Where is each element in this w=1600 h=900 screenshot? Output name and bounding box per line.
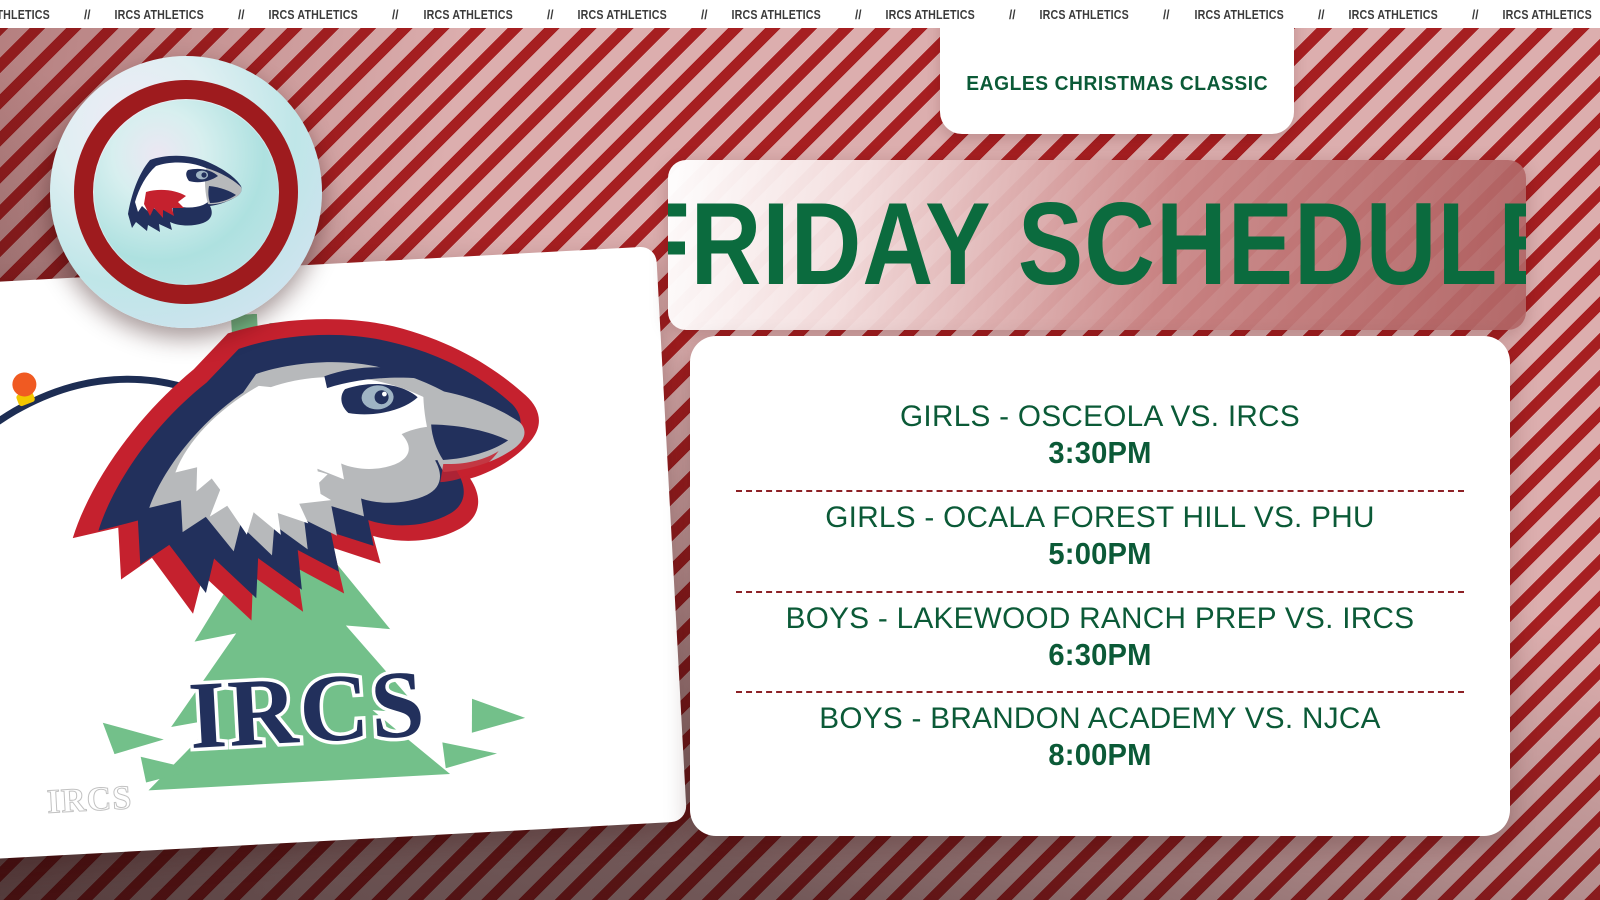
- ticker-item: IRCS ATHLETICS: [262, 7, 364, 22]
- ticker-item: IRCS ATHLETICS: [1188, 7, 1290, 22]
- eagle-head-icon: [126, 152, 246, 232]
- headline-banner: FRIDAY SCHEDULE: [668, 160, 1526, 330]
- game-time: 6:30PM: [748, 637, 1451, 674]
- logo-wordmark: IRCS: [186, 649, 429, 769]
- ticker-separator: //: [1006, 7, 1032, 22]
- row-divider: [736, 691, 1464, 693]
- ticker-separator: //: [851, 7, 877, 22]
- games-list: GIRLS - OSCEOLA VS. IRCS3:30PMGIRLS - OC…: [726, 395, 1474, 783]
- ircs-watermark: IRCS: [46, 779, 133, 822]
- ornament-badge: [50, 56, 322, 328]
- ticker-item: IRCS ATHLETICS: [725, 7, 827, 22]
- ticker-item: IRCS ATHLETICS: [1496, 7, 1598, 22]
- game-matchup: BOYS - LAKEWOOD RANCH PREP VS. IRCS: [730, 602, 1471, 636]
- game-matchup: GIRLS - OSCEOLA VS. IRCS: [730, 400, 1471, 434]
- athletics-ticker: IRCS ATHLETICS//IRCS ATHLETICS//IRCS ATH…: [0, 0, 1600, 28]
- ticker-item: IRCS ATHLETICS: [417, 7, 519, 22]
- ircs-team-logo: IRCS: [21, 298, 577, 816]
- row-divider: [736, 591, 1464, 593]
- game-time: 5:00PM: [748, 536, 1451, 573]
- ticker-separator: //: [543, 7, 569, 22]
- ticker-separator: //: [697, 7, 723, 22]
- game-row: BOYS - LAKEWOOD RANCH PREP VS. IRCS6:30P…: [726, 597, 1474, 683]
- event-title: EAGLES CHRISTMAS CLASSIC: [966, 73, 1268, 96]
- game-row: GIRLS - OCALA FOREST HILL VS. PHU5:00PM: [726, 496, 1474, 582]
- ticker-item: IRCS ATHLETICS: [1342, 7, 1444, 22]
- game-row: BOYS - BRANDON ACADEMY VS. NJCA8:00PM: [726, 697, 1474, 783]
- headline-title: FRIDAY SCHEDULE: [668, 186, 1526, 303]
- game-matchup: GIRLS - OCALA FOREST HILL VS. PHU: [730, 501, 1471, 535]
- game-matchup: BOYS - BRANDON ACADEMY VS. NJCA: [730, 702, 1471, 736]
- ticker-item: IRCS ATHLETICS: [108, 7, 210, 22]
- ornament-core: [94, 100, 278, 284]
- row-divider: [736, 490, 1464, 492]
- ticker-separator: //: [80, 7, 106, 22]
- ticker-separator: //: [235, 7, 261, 22]
- ticker-separator: //: [389, 7, 415, 22]
- ticker-item: IRCS ATHLETICS: [1033, 7, 1135, 22]
- ticker-track: IRCS ATHLETICS//IRCS ATHLETICS//IRCS ATH…: [0, 7, 1600, 22]
- logo-artwork: IRCS: [21, 298, 577, 816]
- schedule-card: GIRLS - OSCEOLA VS. IRCS3:30PMGIRLS - OC…: [690, 336, 1510, 836]
- game-time: 8:00PM: [748, 737, 1451, 774]
- graphic-canvas: IRCS ATHLETICS//IRCS ATHLETICS//IRCS ATH…: [0, 0, 1600, 900]
- ticker-item: IRCS ATHLETICS: [0, 7, 56, 22]
- ticker-item: IRCS ATHLETICS: [879, 7, 981, 22]
- ticker-separator: //: [1160, 7, 1186, 22]
- ticker-separator: //: [1468, 7, 1494, 22]
- ticker-item: IRCS ATHLETICS: [571, 7, 673, 22]
- game-time: 3:30PM: [748, 435, 1451, 472]
- ticker-separator: //: [1314, 7, 1340, 22]
- game-row: GIRLS - OSCEOLA VS. IRCS3:30PM: [726, 395, 1474, 481]
- svg-text:IRCS: IRCS: [186, 649, 429, 769]
- team-photo-card: IRCS IRCS: [0, 246, 687, 866]
